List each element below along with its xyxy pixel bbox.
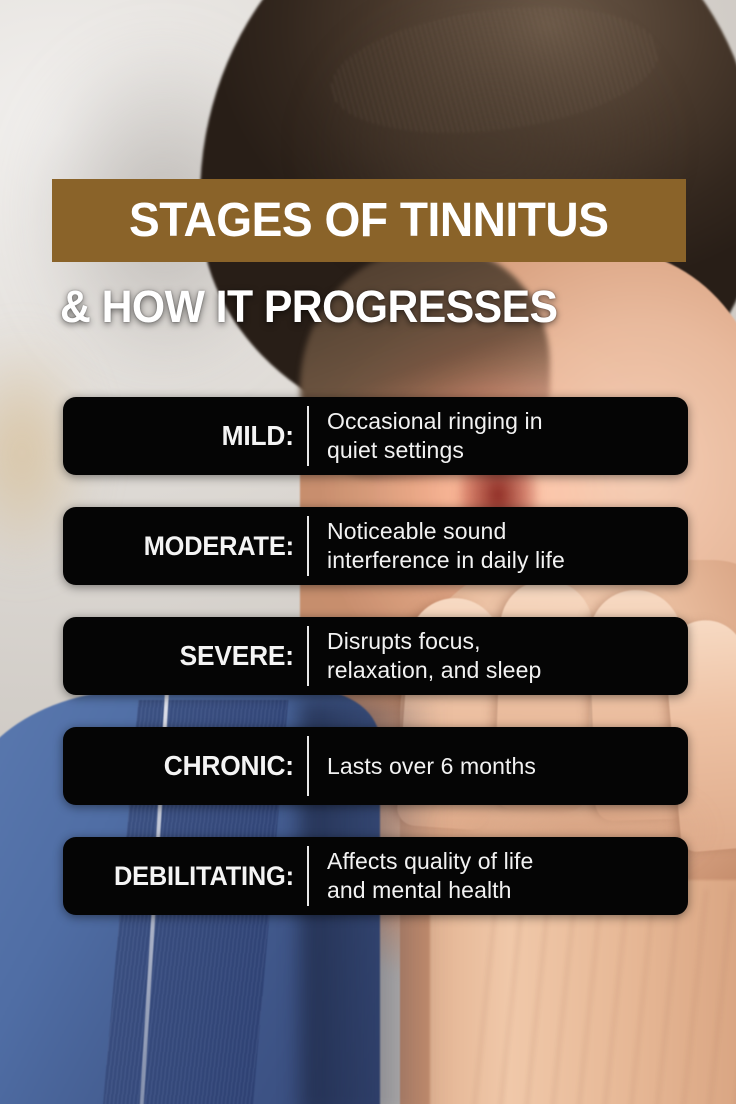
stage-label: MILD: [78,397,307,475]
stage-description-line: Disrupts focus, [327,627,676,656]
title-banner: STAGES OF TINNITUS [52,179,686,262]
stage-row-debilitating: DEBILITATING: Affects quality of life an… [63,837,688,915]
stages-list: MILD: Occasional ringing in quiet settin… [63,397,688,915]
stage-row-moderate: MODERATE: Noticeable sound interference … [63,507,688,585]
stage-row-mild: MILD: Occasional ringing in quiet settin… [63,397,688,475]
infographic-content: STAGES OF TINNITUS & HOW IT PROGRESSES M… [0,0,736,1104]
stage-description-line: Occasional ringing in [327,407,676,436]
stage-description: Disrupts focus, relaxation, and sleep [309,617,688,695]
stage-description-line: Affects quality of life [327,847,676,876]
stage-description-line: relaxation, and sleep [327,656,676,685]
stage-label: DEBILITATING: [78,837,307,915]
stage-description: Noticeable sound interference in daily l… [309,507,688,585]
stage-label: SEVERE: [78,617,307,695]
stage-row-severe: SEVERE: Disrupts focus, relaxation, and … [63,617,688,695]
page-subtitle: & HOW IT PROGRESSES [60,281,668,333]
stage-description: Lasts over 6 months [309,727,688,805]
stage-description-line: Lasts over 6 months [327,752,676,781]
stage-description-line: Noticeable sound [327,517,676,546]
page-title: STAGES OF TINNITUS [129,197,608,245]
stage-description-line: quiet settings [327,436,676,465]
stage-description-line: interference in daily life [327,546,676,575]
stage-description-line: and mental health [327,876,676,905]
stage-description: Affects quality of life and mental healt… [309,837,688,915]
stage-label: CHRONIC: [78,727,307,805]
stage-row-chronic: CHRONIC: Lasts over 6 months [63,727,688,805]
stage-label: MODERATE: [78,507,307,585]
stage-description: Occasional ringing in quiet settings [309,397,688,475]
